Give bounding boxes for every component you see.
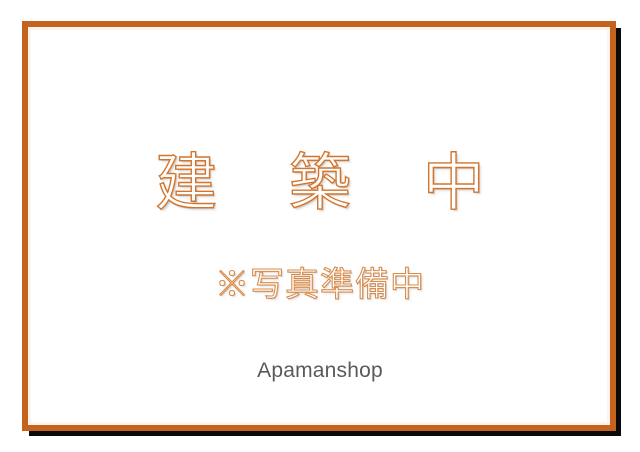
subline-photo-in-preparation: ※写真準備中 <box>0 268 640 302</box>
brand-label-apamanshop: Apamanshop <box>0 360 640 381</box>
placeholder-image-canvas: 建 築 中 ※写真準備中 Apamanshop <box>0 0 640 452</box>
headline-under-construction: 建 築 中 <box>0 152 640 214</box>
